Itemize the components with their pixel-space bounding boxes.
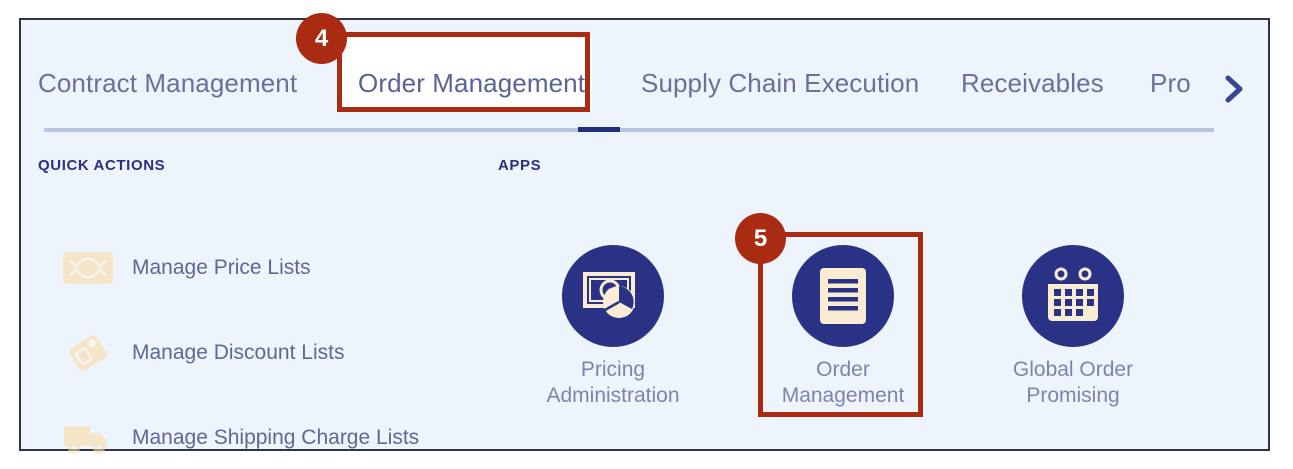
quick-action-label: Manage Discount Lists — [132, 341, 344, 365]
banknote-pie-chart-icon — [562, 245, 664, 347]
callout-badge-4: 4 — [296, 13, 347, 64]
tab-order-management[interactable]: Order Management — [358, 56, 585, 110]
active-tab-indicator — [578, 127, 620, 132]
quick-action-manage-discount-lists[interactable]: Manage Discount Lists — [38, 310, 468, 395]
app-label: Order Management — [782, 357, 905, 409]
tab-receivables[interactable]: Receivables — [961, 56, 1104, 110]
tab-label: Supply Chain Execution — [641, 68, 919, 99]
app-label: Pricing Administration — [546, 357, 679, 409]
tab-strip: Contract Management Order Management Sup… — [21, 20, 1268, 110]
tab-procurement-truncated[interactable]: Pro — [1150, 56, 1208, 110]
calendar-icon — [1022, 245, 1124, 347]
app-order-management[interactable]: Order Management — [728, 245, 958, 409]
quick-action-manage-price-lists[interactable]: Manage Price Lists — [38, 225, 468, 310]
document-lines-icon — [792, 245, 894, 347]
quick-action-label: Manage Price Lists — [132, 256, 311, 280]
truck-icon — [60, 415, 116, 461]
tab-supply-chain-execution[interactable]: Supply Chain Execution — [641, 56, 919, 110]
apps-heading: APPS — [498, 157, 541, 174]
navigator-panel: Contract Management Order Management Sup… — [19, 18, 1270, 451]
callout-badge-number: 4 — [315, 25, 328, 53]
tab-label: Order Management — [358, 68, 585, 99]
app-pricing-administration[interactable]: Pricing Administration — [498, 245, 728, 409]
quick-actions-list: Manage Price Lists Manage Discount Lists — [38, 225, 468, 469]
quick-actions-heading: QUICK ACTIONS — [38, 157, 165, 174]
apps-grid: Pricing Administration Order Management — [498, 245, 1188, 409]
callout-badge-number: 5 — [754, 225, 767, 253]
app-label: Global Order Promising — [1013, 357, 1133, 409]
tab-label: Receivables — [961, 68, 1104, 99]
tab-contract-management[interactable]: Contract Management — [38, 56, 297, 110]
tab-rule — [44, 128, 1214, 132]
chevron-right-icon[interactable] — [1217, 72, 1251, 106]
quick-action-manage-shipping-charge-lists[interactable]: Manage Shipping Charge Lists — [38, 395, 468, 469]
tab-label: Contract Management — [38, 68, 297, 99]
quick-action-label: Manage Shipping Charge Lists — [132, 426, 419, 450]
screenshot-root: Contract Management Order Management Sup… — [0, 0, 1293, 469]
price-tag-icon — [60, 330, 116, 376]
callout-badge-5: 5 — [735, 213, 786, 264]
banknote-icon — [60, 245, 116, 291]
tab-label: Pro — [1150, 68, 1191, 99]
app-global-order-promising[interactable]: Global Order Promising — [958, 245, 1188, 409]
